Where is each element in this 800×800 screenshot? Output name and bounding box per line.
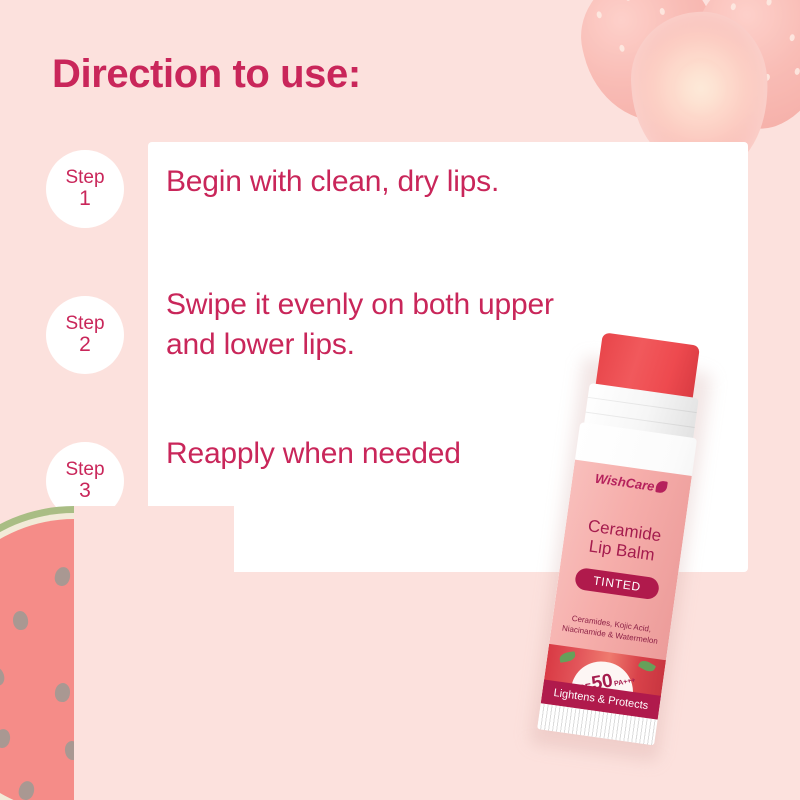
ingredients-text: Ceramides, Kojic Acid, Niacinamide & Wat… bbox=[557, 611, 665, 648]
step-text-1: Begin with clean, dry lips. bbox=[166, 162, 686, 202]
product-name: Ceramide Lip Balm bbox=[562, 513, 685, 570]
step-badge-label: Step bbox=[65, 314, 104, 334]
strawberry-core bbox=[674, 58, 728, 120]
step-badge-number: 1 bbox=[79, 188, 91, 210]
page-title: Direction to use: bbox=[52, 52, 361, 97]
poster-canvas: Direction to use: Step 1 Begin with clea… bbox=[0, 0, 800, 800]
step-badge-label: Step bbox=[65, 168, 104, 188]
variant-badge: TINTED bbox=[574, 567, 660, 600]
brand-name: WishCare bbox=[594, 471, 655, 494]
brand-row: WishCare bbox=[572, 468, 691, 499]
watermelon-crop-mask bbox=[74, 506, 234, 800]
pa-rating: PA+++ bbox=[614, 677, 636, 688]
step-badge-number: 3 bbox=[79, 480, 91, 502]
watermelon-decoration bbox=[0, 506, 234, 800]
tube-body: WishCare Ceramide Lip Balm TINTED Cerami… bbox=[537, 422, 697, 745]
leaf-logo-icon bbox=[656, 480, 669, 493]
step-badge-2: Step 2 bbox=[46, 296, 124, 374]
step-badge-number: 2 bbox=[79, 334, 91, 356]
step-badge-1: Step 1 bbox=[46, 150, 124, 228]
step-badge-label: Step bbox=[65, 460, 104, 480]
